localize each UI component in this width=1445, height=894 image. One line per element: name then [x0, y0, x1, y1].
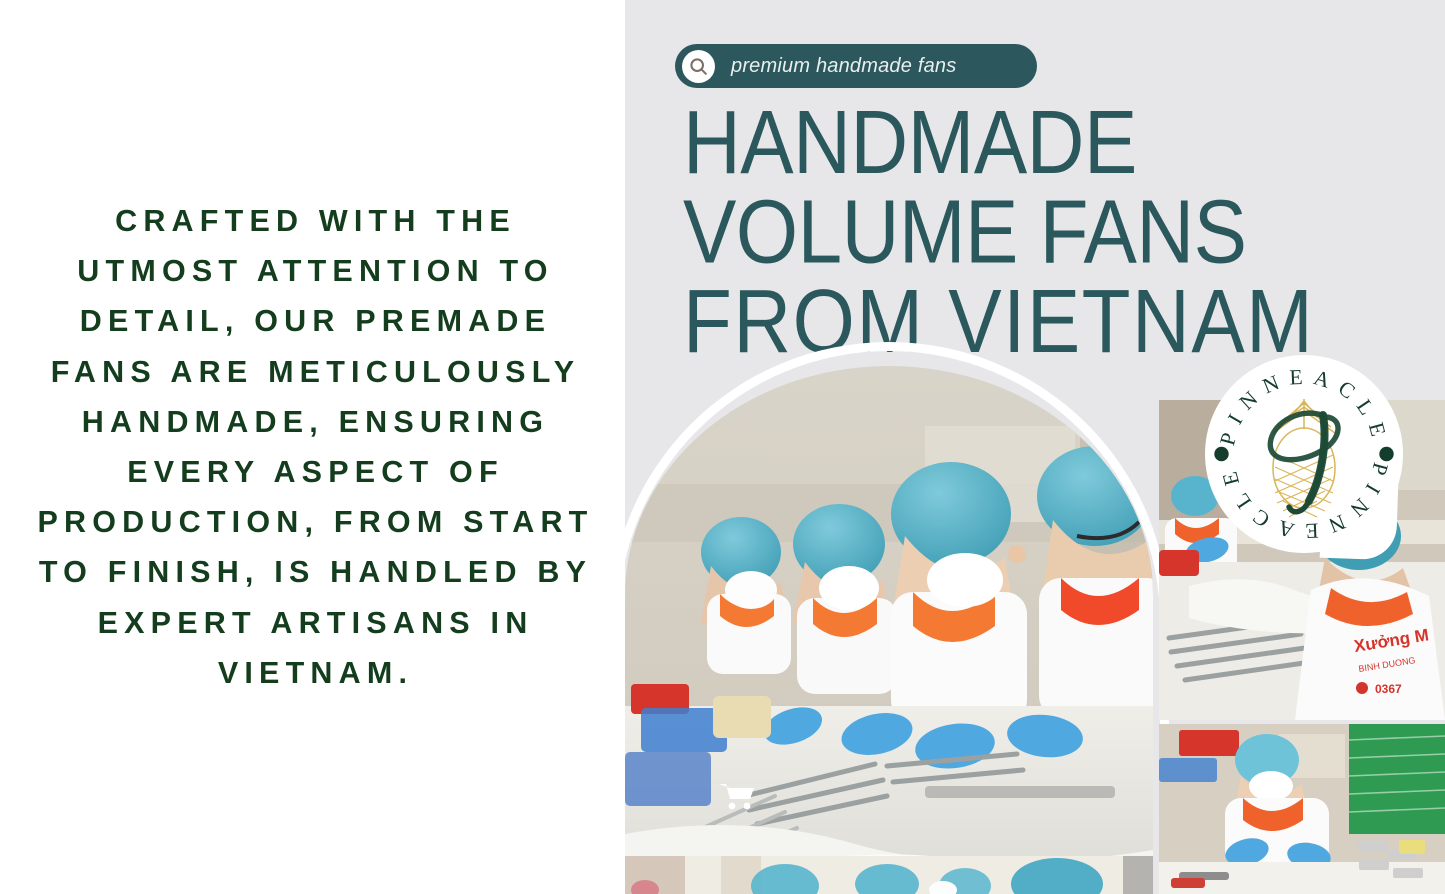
logo-dot-right [1379, 447, 1393, 461]
search-bar[interactable]: premium handmade fans [675, 44, 1037, 88]
shirt-phone-text: 0367 [1375, 682, 1402, 696]
shopping-cart-icon[interactable] [717, 781, 755, 811]
photo-strip-production-line [625, 856, 1153, 894]
photo-strip-illustration [625, 856, 1153, 894]
logo-dot-left [1214, 447, 1228, 461]
photo-main-illustration [625, 366, 1153, 894]
search-input-value[interactable]: premium handmade fans [731, 55, 956, 78]
photo-right-bottom-illustration [1159, 724, 1445, 894]
headline-line-2: VOLUME FANS [683, 188, 1443, 278]
photo-collage: B612 [625, 300, 1445, 894]
right-visual-panel: premium handmade fans HANDMADE VOLUME FA… [625, 0, 1445, 894]
search-icon[interactable] [682, 50, 715, 83]
poster-canvas: Crafted with the utmost attention to det… [0, 0, 1445, 894]
photo-main-workers-assembling-fans: B612 [625, 366, 1153, 894]
photo-worker-sorting-trays [1159, 724, 1445, 894]
left-text-panel: Crafted with the utmost attention to det… [0, 0, 625, 894]
body-copy-paragraph: Crafted with the utmost attention to det… [23, 196, 603, 698]
headline-line-1: HANDMADE [683, 98, 1443, 188]
logo-artwork: PINNEACLE PINNEACLE [1205, 355, 1403, 553]
brand-logo-badge[interactable]: PINNEACLE PINNEACLE [1205, 355, 1403, 553]
